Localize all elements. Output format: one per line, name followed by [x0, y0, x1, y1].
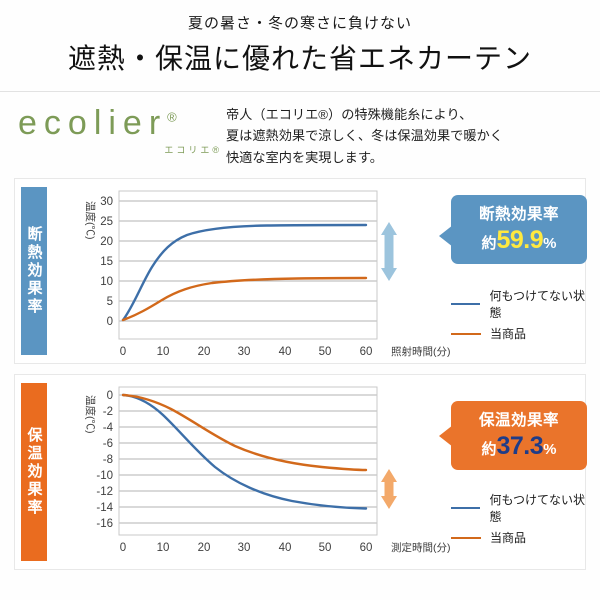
panel-heat-retention: 保温効果率 温度(℃) 0 -2 [14, 374, 586, 570]
legend-swatch-blue-2 [451, 507, 480, 509]
curve-no-curtain-1 [123, 225, 366, 320]
gridlines-2 [119, 395, 377, 523]
svg-text:-12: -12 [96, 486, 113, 498]
svg-text:-4: -4 [103, 422, 114, 434]
svg-text:0: 0 [107, 390, 113, 402]
svg-text:-8: -8 [103, 454, 113, 466]
product-description: 帝人（エコリエ®）の特殊機能糸により、 夏は遮熱効果で涼しく、冬は保温効果で暖か… [226, 102, 582, 168]
callout-value-1: 約59.9% [461, 226, 577, 255]
brand-name-text: ecolier [18, 104, 167, 142]
infographic-page: 夏の暑さ・冬の寒さに負けない 遮熱・保温に優れた省エネカーテン ecolier®… [0, 0, 600, 600]
y-ticks-2: 0 -2 -4 -6 -8 -10 -12 -14 -16 [96, 390, 113, 530]
callout-title-1: 断熱効果率 [461, 202, 577, 224]
panel-body-insulation: 温度(℃) 30 25 20 15 10 [47, 179, 595, 363]
legend-swatch-orange-2 [451, 537, 481, 539]
legend-heat-retention: 何もつけてない状態 当商品 [451, 491, 595, 550]
svg-text:0: 0 [120, 346, 126, 358]
callout-prefix-1: 約 [481, 235, 496, 252]
page-header: 夏の暑さ・冬の寒さに負けない 遮熱・保温に優れた省エネカーテン [0, 0, 600, 77]
svg-text:5: 5 [107, 296, 113, 308]
brand-name: ecolier® [18, 106, 226, 140]
svg-text:40: 40 [279, 542, 292, 554]
svg-text:0: 0 [107, 316, 113, 328]
sidebar-label-heat-retention: 保温効果率 [21, 383, 47, 561]
legend-label-1a: 何もつけてない状態 [489, 287, 595, 321]
description-line-1: 帝人（エコリエ®）の特殊機能糸により、 [226, 104, 582, 125]
gap-arrow-1 [381, 222, 397, 281]
svg-text:30: 30 [238, 346, 251, 358]
gap-arrow-2 [381, 469, 397, 509]
svg-text:-2: -2 [103, 406, 113, 418]
brand-logo: ecolier® エコリエ® [18, 102, 226, 156]
svg-text:20: 20 [100, 236, 113, 248]
svg-text:-10: -10 [96, 470, 113, 482]
curve-product-1 [123, 278, 366, 320]
svg-text:15: 15 [100, 256, 113, 268]
registered-mark: ® [167, 110, 177, 125]
svg-text:-16: -16 [96, 518, 113, 530]
legend-item: 何もつけてない状態 [451, 491, 595, 525]
callout-number-2: 37.3 [497, 432, 544, 460]
page-title: 遮熱・保温に優れた省エネカーテン [0, 37, 600, 77]
legend-insulation: 何もつけてない状態 当商品 [451, 287, 595, 346]
svg-text:60: 60 [360, 346, 373, 358]
svg-text:25: 25 [100, 216, 113, 228]
y-ticks-1: 30 25 20 15 10 5 0 [100, 196, 113, 328]
description-line-3: 快適な室内を実現します。 [226, 147, 582, 168]
callout-unit-1: % [543, 235, 556, 252]
callout-value-2: 約37.3% [461, 432, 577, 461]
brand-description-row: ecolier® エコリエ® 帝人（エコリエ®）の特殊機能糸により、 夏は遮熱効… [0, 92, 600, 168]
callout-unit-2: % [543, 441, 556, 458]
y-axis-label-1: 温度(℃) [84, 201, 97, 240]
callout-prefix-2: 約 [481, 441, 496, 458]
legend-label-2a: 何もつけてない状態 [489, 491, 595, 525]
svg-text:10: 10 [157, 542, 170, 554]
description-line-2: 夏は遮熱効果で涼しく、冬は保温効果で暖かく [226, 125, 582, 146]
legend-item: 当商品 [451, 325, 595, 342]
svg-text:30: 30 [238, 542, 251, 554]
header-subtitle: 夏の暑さ・冬の寒さに負けない [0, 12, 600, 33]
svg-text:40: 40 [279, 346, 292, 358]
callout-heat-retention: 保温効果率 約37.3% [451, 401, 587, 470]
svg-text:-6: -6 [103, 438, 113, 450]
svg-text:50: 50 [319, 542, 332, 554]
svg-text:60: 60 [360, 542, 373, 554]
svg-text:-14: -14 [96, 502, 113, 514]
svg-text:30: 30 [100, 196, 113, 208]
svg-text:10: 10 [100, 276, 113, 288]
legend-label-1b: 当商品 [490, 325, 526, 342]
x-axis-label-2: 測定時間(分) [391, 541, 451, 554]
sidebar-label-insulation: 断熱効果率 [21, 187, 47, 355]
legend-swatch-blue-1 [451, 303, 480, 305]
svg-text:10: 10 [157, 346, 170, 358]
legend-swatch-orange-1 [451, 333, 481, 335]
callout-number-1: 59.9 [497, 226, 544, 254]
callout-title-2: 保温効果率 [461, 408, 577, 430]
svg-text:50: 50 [319, 346, 332, 358]
panel-body-heat-retention: 温度(℃) 0 -2 -4 -6 [47, 375, 595, 569]
y-axis-label-2: 温度(℃) [84, 395, 97, 434]
brand-kana: エコリエ® [18, 143, 226, 156]
callout-insulation: 断熱効果率 約59.9% [451, 195, 587, 264]
x-ticks-1: 0 10 20 30 40 50 60 [120, 346, 373, 358]
svg-text:20: 20 [198, 542, 211, 554]
legend-item: 当商品 [451, 529, 595, 546]
x-axis-label-1: 照射時間(分) [391, 345, 451, 358]
x-ticks-2: 0 10 20 30 40 50 60 [120, 542, 373, 554]
svg-text:20: 20 [198, 346, 211, 358]
panel-insulation: 断熱効果率 温度(℃) 30 25 [14, 178, 586, 364]
svg-text:0: 0 [120, 542, 126, 554]
legend-item: 何もつけてない状態 [451, 287, 595, 321]
curve-no-curtain-2 [123, 395, 366, 509]
legend-label-2b: 当商品 [490, 529, 526, 546]
